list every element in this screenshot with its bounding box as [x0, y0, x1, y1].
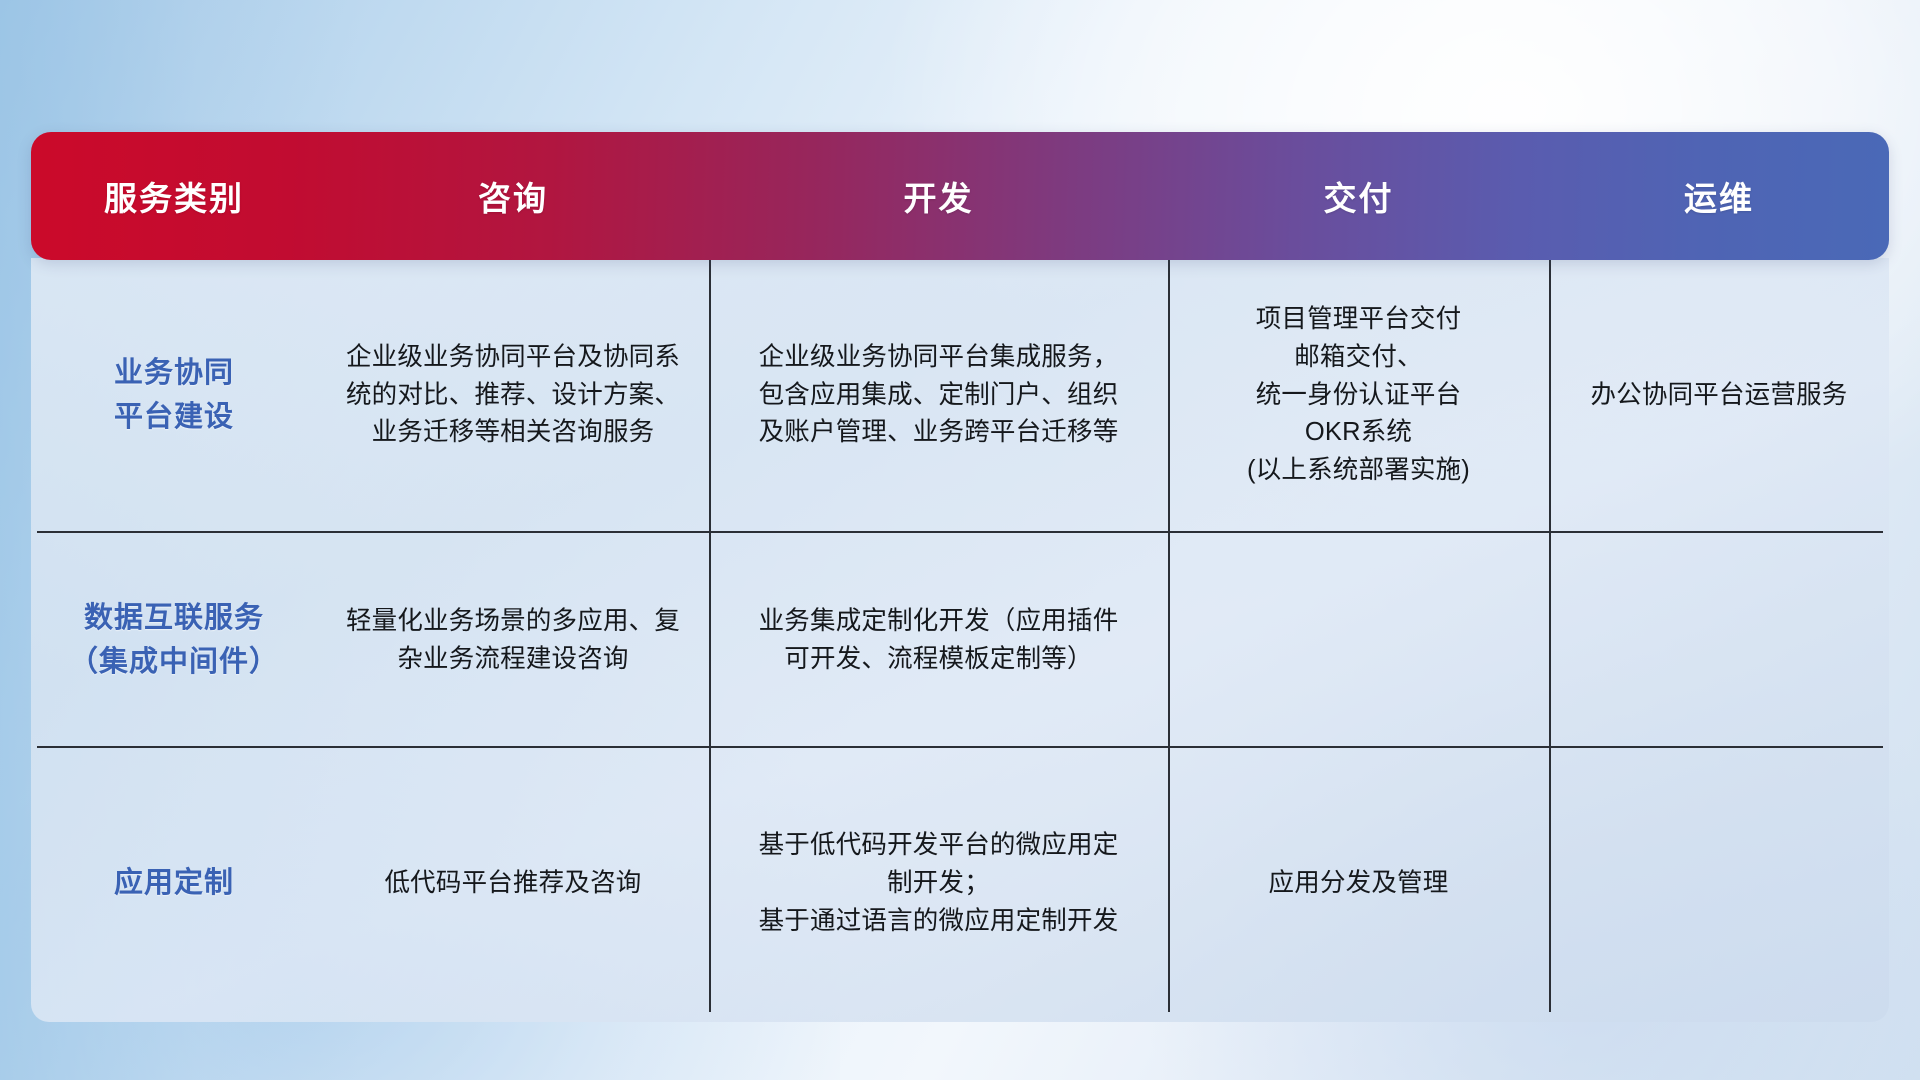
cell-row2-delivery: [1168, 533, 1549, 748]
cell-row2-operations: [1549, 533, 1889, 748]
column-divider: [1549, 258, 1551, 533]
column-header-label: 开发: [904, 172, 974, 220]
row-label-business-collaboration-platform: 业务协同 平台建设: [31, 258, 317, 533]
column-divider: [1549, 533, 1551, 748]
cell-text: 企业级业务协同平台及协同系 统的对比、推荐、设计方案、 业务迁移等相关咨询服务: [346, 339, 680, 452]
table-header-row: 服务类别 咨询 开发 交付 运维: [31, 132, 1889, 260]
service-matrix-table: 服务类别 咨询 开发 交付 运维 业务协同 平台建设 企业级业务协同平台及协同系…: [31, 132, 1889, 1022]
cell-row2-development: 业务集成定制化开发（应用插件 可开发、流程模板定制等）: [709, 533, 1168, 748]
column-header-delivery: 交付: [1168, 132, 1549, 260]
column-header-label: 服务类别: [104, 172, 244, 220]
cell-row2-consulting: 轻量化业务场景的多应用、复 杂业务流程建设咨询: [317, 533, 709, 748]
row-label-application-customization: 应用定制: [31, 748, 317, 1020]
cell-row3-consulting: 低代码平台推荐及咨询: [317, 748, 709, 1020]
row-label-data-interconnect-service: 数据互联服务 （集成中间件）: [31, 533, 317, 748]
cell-row3-delivery: 应用分发及管理: [1168, 748, 1549, 1020]
cell-row1-development: 企业级业务协同平台集成服务， 包含应用集成、定制门户、组织 及账户管理、业务跨平…: [709, 258, 1168, 533]
cell-text: 项目管理平台交付 邮箱交付、 统一身份认证平台 OKR系统 (以上系统部署实施): [1247, 301, 1470, 490]
cell-text: 业务集成定制化开发（应用插件 可开发、流程模板定制等）: [759, 603, 1119, 678]
row-label-text: 数据互联服务 （集成中间件）: [69, 597, 279, 684]
column-divider: [1168, 533, 1170, 748]
table-row: 业务协同 平台建设 企业级业务协同平台及协同系 统的对比、推荐、设计方案、 业务…: [31, 258, 1889, 533]
cell-row1-delivery: 项目管理平台交付 邮箱交付、 统一身份认证平台 OKR系统 (以上系统部署实施): [1168, 258, 1549, 533]
cell-row1-consulting: 企业级业务协同平台及协同系 统的对比、推荐、设计方案、 业务迁移等相关咨询服务: [317, 258, 709, 533]
cell-row3-operations: [1549, 748, 1889, 1020]
row-label-text: 业务协同 平台建设: [114, 352, 234, 439]
column-divider: [1168, 748, 1170, 1012]
column-divider: [709, 258, 711, 533]
column-divider: [1549, 748, 1551, 1012]
cell-text: 办公协同平台运营服务: [1590, 377, 1847, 415]
column-header-service-category: 服务类别: [31, 132, 317, 260]
table-body: 业务协同 平台建设 企业级业务协同平台及协同系 统的对比、推荐、设计方案、 业务…: [31, 258, 1889, 1022]
column-header-development: 开发: [709, 132, 1168, 260]
column-divider: [1168, 258, 1170, 533]
table-row: 数据互联服务 （集成中间件） 轻量化业务场景的多应用、复 杂业务流程建设咨询 业…: [31, 533, 1889, 748]
cell-row1-operations: 办公协同平台运营服务: [1549, 258, 1889, 533]
column-header-consulting: 咨询: [317, 132, 709, 260]
cell-text: 低代码平台推荐及咨询: [384, 865, 641, 903]
cell-text: 企业级业务协同平台集成服务， 包含应用集成、定制门户、组织 及账户管理、业务跨平…: [759, 339, 1119, 452]
row-label-text: 应用定制: [114, 862, 234, 906]
column-header-label: 交付: [1324, 172, 1394, 220]
table-row: 应用定制 低代码平台推荐及咨询 基于低代码开发平台的微应用定 制开发； 基于通过…: [31, 748, 1889, 1020]
cell-text: 应用分发及管理: [1269, 865, 1449, 903]
column-divider: [709, 533, 711, 748]
cell-row3-development: 基于低代码开发平台的微应用定 制开发； 基于通过语言的微应用定制开发: [709, 748, 1168, 1020]
cell-text: 轻量化业务场景的多应用、复 杂业务流程建设咨询: [346, 603, 680, 678]
column-divider: [709, 748, 711, 1012]
column-header-operations: 运维: [1549, 132, 1889, 260]
column-header-label: 运维: [1684, 172, 1754, 220]
column-header-label: 咨询: [478, 172, 548, 220]
cell-text: 基于低代码开发平台的微应用定 制开发； 基于通过语言的微应用定制开发: [759, 827, 1119, 940]
